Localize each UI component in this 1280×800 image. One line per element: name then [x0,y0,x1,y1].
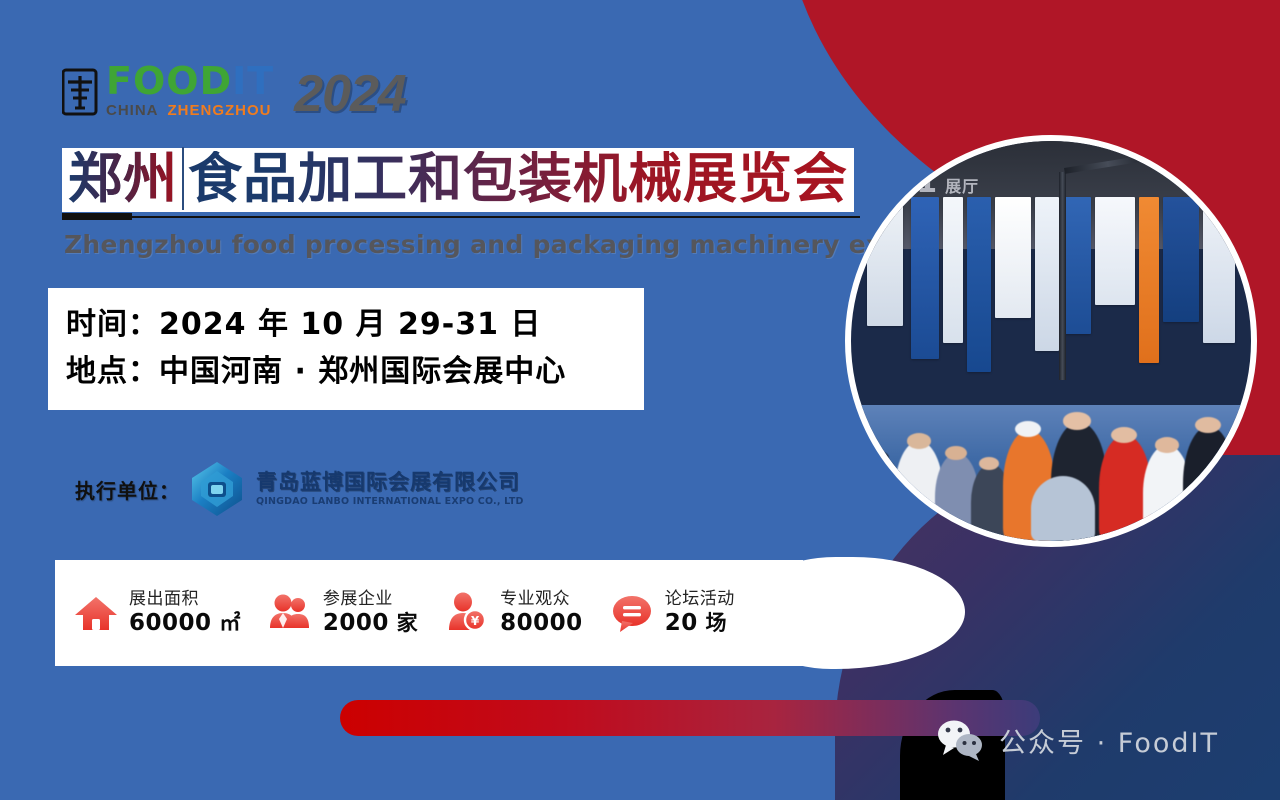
logo-it-text: IT [232,59,274,103]
event-info-box: 时间：2024 年 10 月 29-31 日 地点：中国河南 · 郑州国际会展中… [48,288,644,410]
wechat-icon [935,718,987,762]
stat-unit: 家 [389,611,418,635]
hall-sign-label: 展厅 [945,177,979,196]
stat-label: 展出面积 [129,590,241,609]
stat-value: 20 场 [665,611,735,637]
stat-value: 80000 [500,611,583,637]
hall-sign: A1展厅 [891,165,979,200]
logo-city-text: ZHENGZHOU [168,103,272,118]
exhibition-photo: A1展厅 [845,135,1257,547]
svg-text:¥: ¥ [471,614,480,628]
wechat-footer[interactable]: 公众号 · FoodIT [935,718,1219,762]
stat-item: 论坛活动 20 场 [609,590,735,637]
stat-label: 参展企业 [323,590,418,609]
logo-china-text: CHINA [106,103,159,118]
brand-logo: FOODIT CHINA ZHENGZHOU 2024 [62,62,406,118]
poster-canvas: FOODIT CHINA ZHENGZHOU 2024 郑州食品加工和包装机械展… [0,0,1280,800]
executor-company-en: QINGDAO LANBO INTERNATIONAL EXPO CO., LT… [256,497,524,507]
executor-company-cn: 青岛蓝博国际会展有限公司 [256,471,524,493]
logo-food-text: FOOD [106,59,232,103]
stat-value: 60000 ㎡ [129,611,241,637]
hall-sign-code: A1 [891,165,939,200]
house-icon [73,590,119,636]
stat-label: 专业观众 [500,590,583,609]
event-date-line: 时间：2024 年 10 月 29-31 日 [66,302,644,349]
logo-wordmark: FOODIT [106,62,274,100]
stat-number: 60000 [129,610,212,636]
executor-label: 执行单位： [75,475,180,504]
main-title-box: 郑州食品加工和包装机械展览会 [62,148,854,212]
title-underline-rule [62,216,860,218]
china-seal-icon [62,66,98,118]
visitor-icon: ¥ [444,590,490,636]
lanbo-logo-icon [186,458,248,520]
stat-item: 展出面积 60000 ㎡ [73,590,241,637]
title-city-text: 郑州 [68,147,184,210]
title-rest-text: 食品加工和包装机械展览会 [188,147,848,210]
stat-value: 2000 家 [323,611,418,637]
logo-year: 2024 [294,71,406,118]
stats-band: 展出面积 60000 ㎡ [55,560,803,666]
stat-number: 20 [665,610,698,636]
people-icon [267,590,313,636]
crowd-of-visitors [851,349,1251,541]
event-venue-line: 地点：中国河南 · 郑州国际会展中心 [66,349,644,396]
main-title: 郑州食品加工和包装机械展览会 [68,151,848,207]
wechat-account-text: 公众号 · FoodIT [999,721,1219,760]
forum-icon [609,590,655,636]
stat-item: ¥ 专业观众 80000 [444,590,583,637]
stat-item: 参展企业 2000 家 [267,590,418,637]
stat-number: 2000 [323,610,389,636]
stat-unit: ㎡ [212,611,241,635]
executor-row: 执行单位： 青岛蓝博国际会展有限公司 QINGDAO LANBO INTERNA… [75,458,524,520]
stat-label: 论坛活动 [665,590,735,609]
stat-number: 80000 [500,610,583,636]
stat-unit: 场 [698,611,727,635]
